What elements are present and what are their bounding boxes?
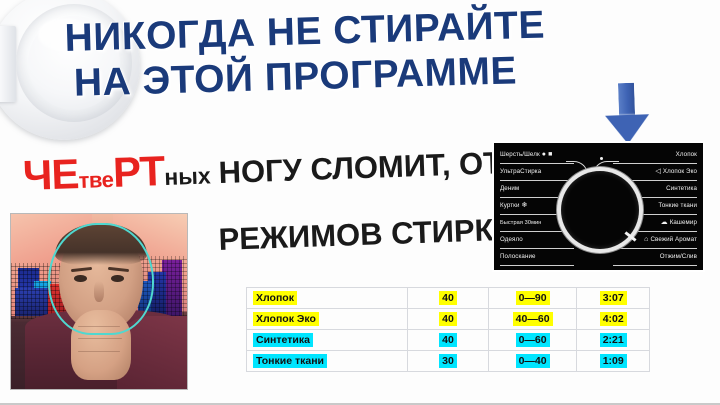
highlight: 40—60 — [513, 312, 553, 326]
cell-duration: 2:21 — [577, 330, 650, 351]
program-label: Одеяло — [500, 236, 523, 244]
presenter-cutout-outline — [50, 225, 152, 334]
program-comparison-table: Хлопок 40 0—90 3:07 Хлопок Эко 40 40—60 … — [246, 287, 650, 372]
washing-machine-control-panel[interactable]: Шерсть/Шелк ● ■ УльтраСтирка Деним Куртк… — [492, 141, 705, 272]
program-ultra-wash[interactable]: УльтраСтирка — [500, 164, 574, 181]
table-body: Хлопок 40 0—90 3:07 Хлопок Эко 40 40—60 … — [247, 288, 650, 372]
subtitle-che: ЧЕ — [22, 150, 79, 199]
down-arrow-icon — [604, 81, 650, 144]
highlight: 40 — [439, 333, 457, 347]
program-wool-silk[interactable]: Шерсть/Шелк ● ■ — [500, 147, 574, 164]
program-label: Куртки — [500, 202, 520, 210]
cell-temperature: 40 — [408, 288, 489, 309]
cloud-icon: ☁ — [661, 219, 668, 227]
program-label: Деним — [500, 185, 519, 193]
program-blanket[interactable]: Одеяло — [500, 232, 574, 249]
program-selector-dial[interactable] — [561, 171, 639, 249]
headline: НИКОГДА НЕ СТИРАЙТЕ НА ЭТОЙ ПРОГРАММЕ — [64, 0, 626, 106]
highlight: 3:07 — [600, 291, 627, 305]
snowflake-icon: ❄ — [522, 202, 528, 210]
program-cotton[interactable]: Хлопок — [613, 147, 697, 164]
program-label: Кашемир — [670, 219, 697, 227]
cell-spin-range: 40—60 — [488, 309, 577, 330]
cell-spin-range: 0—40 — [488, 351, 577, 372]
cell-program-name: Тонкие ткани — [247, 351, 408, 372]
cell-spin-range: 0—90 — [488, 288, 577, 309]
subtitle-tve: тве — [78, 167, 114, 193]
highlight: Хлопок — [253, 291, 297, 305]
cell-program-name: Синтетика — [247, 330, 408, 351]
door-hinge — [0, 26, 16, 102]
highlight: 4:02 — [600, 312, 627, 326]
subtitle-rt: РТ — [112, 147, 165, 196]
highlight: 0—60 — [516, 333, 550, 347]
highlight: 0—40 — [516, 354, 550, 368]
eco-leaf-icon: ◁ — [655, 168, 660, 176]
cell-duration: 1:09 — [577, 351, 650, 372]
cell-temperature: 30 — [408, 351, 489, 372]
highlight: 2:21 — [600, 333, 627, 347]
highlight: 40 — [439, 291, 457, 305]
program-spin-drain[interactable]: Отжим/Слив — [613, 249, 697, 266]
cell-duration: 4:02 — [577, 309, 650, 330]
table-row: Хлопок Эко 40 40—60 4:02 — [247, 309, 650, 330]
highlight: 1:09 — [600, 354, 627, 368]
table-row: Хлопок 40 0—90 3:07 — [247, 288, 650, 309]
cell-temperature: 40 — [408, 309, 489, 330]
program-label: Тонкие ткани — [658, 202, 697, 210]
cell-program-name: Хлопок — [247, 288, 408, 309]
highlight: 0—90 — [516, 291, 550, 305]
highlight: Хлопок Эко — [253, 312, 319, 326]
cell-temperature: 40 — [408, 330, 489, 351]
program-label: Отжим/Слив — [660, 253, 697, 261]
subtitle-nogu: НОГУ СЛОМИТ, ОТ — [218, 145, 503, 190]
home-icon: ⌂ — [644, 236, 648, 244]
highlight: 40 — [439, 312, 457, 326]
program-label: Шерсть/Шелк — [500, 151, 540, 159]
subtitle-nyh: ных — [164, 162, 211, 190]
program-label: Свежий Аромат — [650, 236, 697, 244]
program-label: УльтраСтирка — [500, 168, 541, 176]
program-label: Хлопок — [676, 151, 697, 159]
presenter-photo — [10, 213, 188, 390]
thumbnail-canvas: НИКОГДА НЕ СТИРАЙТЕ НА ЭТОЙ ПРОГРАММЕ ЧЕ… — [0, 0, 720, 405]
wool-lock-icon: ● ■ — [542, 151, 553, 159]
cell-spin-range: 0—60 — [488, 330, 577, 351]
program-rinse[interactable]: Полоскание — [500, 249, 574, 266]
program-label: Синтетика — [666, 185, 697, 193]
cell-program-name: Хлопок Эко — [247, 309, 408, 330]
table-row: Синтетика 40 0—60 2:21 — [247, 330, 650, 351]
cell-duration: 3:07 — [577, 288, 650, 309]
finger-line-3 — [78, 351, 120, 352]
highlight: 30 — [439, 354, 457, 368]
indicator-led — [600, 157, 603, 160]
highlight: Синтетика — [253, 333, 313, 347]
table-row: Тонкие ткани 30 0—40 1:09 — [247, 351, 650, 372]
program-label: Полоскание — [500, 253, 536, 261]
highlight: Тонкие ткани — [253, 354, 327, 368]
subtitle-line-2: РЕЖИМОВ СТИРКИ — [218, 212, 516, 258]
program-label: Хлопок Эко — [663, 168, 697, 176]
program-cotton-eco[interactable]: ◁ Хлопок Эко — [613, 164, 697, 181]
arrow-shaft — [617, 82, 636, 119]
